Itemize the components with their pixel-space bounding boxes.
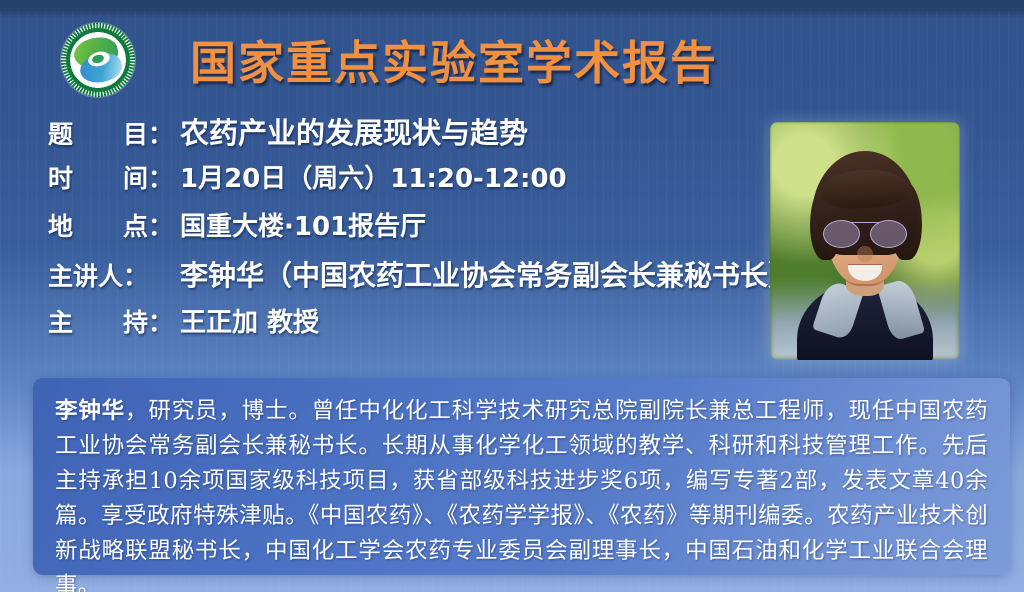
info-row-speaker: 主讲人： 李钟华 （中国农药工业协会常务副会长兼秘书长） bbox=[48, 254, 768, 302]
info-label-host: 主 持： bbox=[48, 303, 180, 339]
photo-glasses bbox=[823, 220, 907, 246]
info-value-speaker-affiliation: （中国农药工业协会常务副会长兼秘书长） bbox=[264, 254, 796, 294]
info-row-time: 时 间： 1月20日（周六）11:20-12:00 bbox=[48, 158, 768, 206]
poster-header: 国家重点实验室学术报告 bbox=[0, 11, 1024, 97]
speaker-bio-text: 李钟华，研究员，博士。曾任中化化工科学技术研究总院副院长兼总工程师，现任中国农药… bbox=[55, 394, 988, 592]
seminar-poster: 国家重点实验室学术报告 题 目： 农药产业的发展现状与趋势 时 间： 1月20日… bbox=[0, 0, 1024, 592]
photo-lip bbox=[844, 260, 886, 286]
info-label-time: 时 间： bbox=[48, 159, 180, 195]
info-label-location: 地 点： bbox=[48, 207, 180, 243]
info-value-host: 王正加 教授 bbox=[180, 302, 319, 339]
info-value-speaker: 李钟华 bbox=[180, 254, 264, 294]
info-value-topic: 农药产业的发展现状与趋势 bbox=[180, 110, 528, 152]
photo-glasses-bridge bbox=[850, 222, 880, 224]
info-value-time: 1月20日（周六）11:20-12:00 bbox=[180, 158, 567, 195]
top-accent-bar bbox=[0, 0, 1024, 11]
speaker-bio-body: ，研究员，博士。曾任中化化工科学技术研究总院副院长兼总工程师，现任中国农药工业协… bbox=[55, 398, 988, 592]
info-value-location: 国重大楼·101报告厅 bbox=[180, 206, 426, 243]
photo-lens-right bbox=[870, 220, 907, 248]
info-label-speaker: 主讲人： bbox=[48, 257, 180, 293]
info-row-host: 主 持： 王正加 教授 bbox=[48, 302, 768, 350]
photo-lens-left bbox=[823, 220, 860, 248]
info-row-location: 地 点： 国重大楼·101报告厅 bbox=[48, 206, 768, 254]
page-title: 国家重点实验室学术报告 bbox=[190, 27, 890, 93]
info-label-topic: 题 目： bbox=[48, 115, 180, 151]
speaker-bio-panel: 李钟华，研究员，博士。曾任中化化工科学技术研究总院副院长兼总工程师，现任中国农药… bbox=[33, 378, 1010, 575]
laboratory-logo-icon bbox=[61, 23, 135, 97]
event-info-list: 题 目： 农药产业的发展现状与趋势 时 间： 1月20日（周六）11:20-12… bbox=[48, 110, 768, 350]
info-row-topic: 题 目： 农药产业的发展现状与趋势 bbox=[48, 110, 768, 158]
logo-emblem bbox=[72, 34, 124, 86]
speaker-bio-name: 李钟华 bbox=[55, 398, 125, 424]
speaker-photo-content bbox=[770, 122, 960, 360]
speaker-photo bbox=[770, 122, 960, 360]
